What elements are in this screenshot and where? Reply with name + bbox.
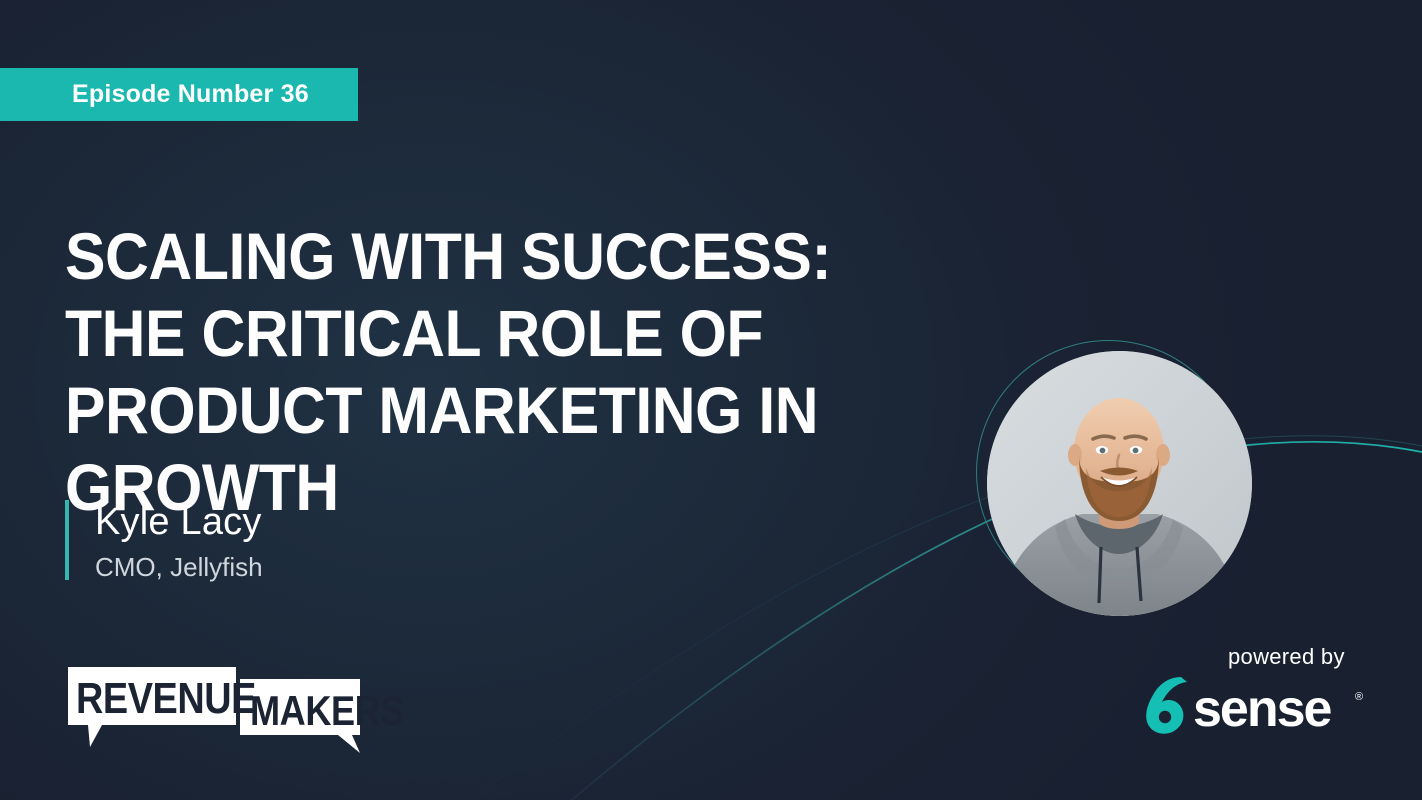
logo-word-makers: MAKERS xyxy=(250,686,404,736)
portrait-illustration xyxy=(987,351,1252,616)
episode-title: Scaling With Success: The Critical Role … xyxy=(65,218,875,526)
speaker-accent-bar xyxy=(65,500,69,580)
sixsense-logo: sense ® xyxy=(1133,674,1368,736)
svg-text:sense: sense xyxy=(1193,680,1332,736)
sixsense-logo-mark: sense ® xyxy=(1133,674,1368,736)
revenue-makers-logo: REVENUE MAKERS xyxy=(64,661,364,753)
speaker-role: CMO, Jellyfish xyxy=(95,552,263,582)
speaker-name: Kyle Lacy xyxy=(95,498,263,546)
logo-word-revenue: REVENUE xyxy=(76,674,256,724)
powered-by-label: powered by xyxy=(1228,644,1345,670)
episode-number-label: Episode Number 36 xyxy=(72,80,309,109)
speaker-portrait xyxy=(987,351,1252,616)
speaker-block: Kyle Lacy CMO, Jellyfish xyxy=(65,498,263,582)
episode-number-badge: Episode Number 36 xyxy=(0,68,358,121)
speaker-portrait-wrap xyxy=(987,351,1252,616)
podcast-episode-slide: Episode Number 36 Scaling With Success: … xyxy=(0,0,1422,800)
svg-text:®: ® xyxy=(1355,691,1363,703)
